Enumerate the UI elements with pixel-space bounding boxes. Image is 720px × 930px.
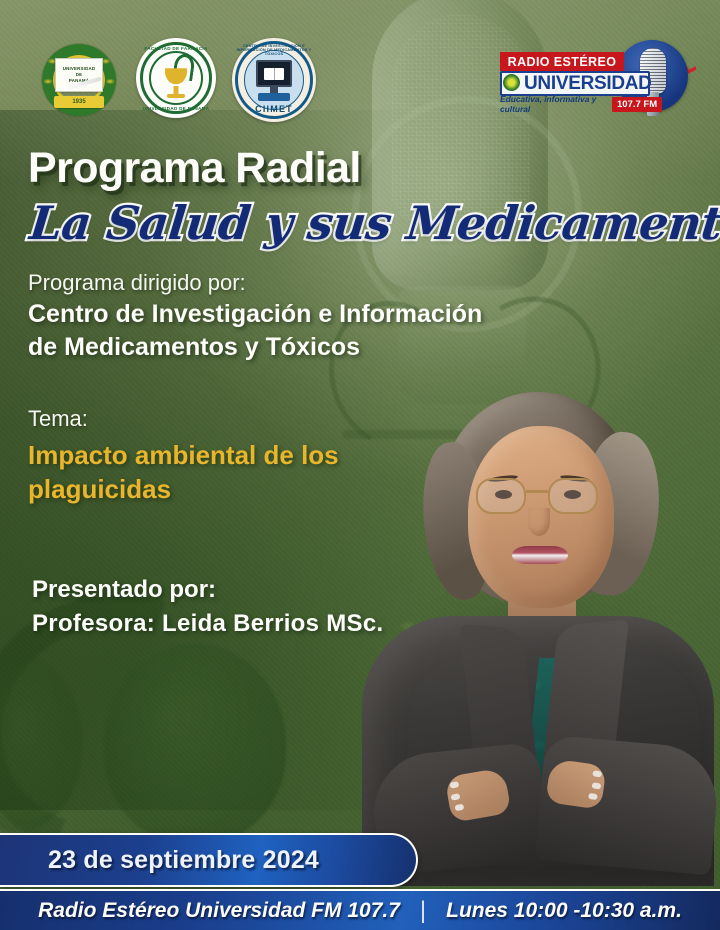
poster-canvas: UNIVERSIDAD DE PANAMÁ 1935 FACULTAD DE F… (0, 0, 720, 930)
directed-by-label: Programa dirigido por: (28, 270, 246, 296)
organizing-center-name: Centro de Investigación e Información de… (28, 298, 508, 363)
fingernail (454, 804, 464, 811)
bowl-foot (167, 94, 185, 98)
book-icon (264, 68, 284, 80)
eyeglasses-lens-right (548, 478, 598, 514)
program-title: Programa Radial (28, 144, 361, 193)
footer-bar: Radio Estéreo Universidad FM 107.7 | Lun… (0, 889, 720, 930)
up-logo-year: 1935 (54, 96, 104, 108)
footer-separator: | (420, 897, 426, 925)
eyeglasses-bridge (526, 490, 548, 493)
radio-logo-top-line: RADIO ESTÉREO (500, 52, 624, 71)
fingernail (592, 770, 602, 777)
fingernail (449, 781, 459, 788)
presenter-portrait (352, 390, 720, 885)
radio-logo-frequency: 107.7 FM (612, 97, 662, 112)
event-date-banner: 23 de septiembre 2024 (0, 833, 418, 887)
farmacia-bottom-text: UNIVERSIDAD DE PANAMÁ (136, 106, 216, 111)
broadcast-schedule: Lunes 10:00 -10:30 a.m. (446, 899, 682, 923)
fingernail (451, 793, 461, 800)
event-date: 23 de septiembre 2024 (48, 846, 319, 875)
ciimet-acronym: CIIMET (232, 104, 316, 114)
mouth (512, 546, 568, 564)
nose (528, 508, 550, 536)
radio-logo-seal-icon (503, 74, 520, 91)
radio-logo-tagline: Educativa, informativa y cultural (500, 97, 628, 111)
fingernail (588, 793, 598, 800)
radio-logo-main-line: UNIVERSIDAD (500, 71, 650, 96)
facultad-de-farmacia-logo: FACULTAD DE FARMACIA UNIVERSIDAD DE PANA… (136, 38, 216, 118)
presenter-name: Profesora: Leida Berrios MSc. (32, 610, 383, 638)
station-name: Radio Estéreo Universidad FM 107.7 (38, 899, 400, 923)
computer-monitor-icon (256, 60, 292, 87)
fingernail (592, 782, 602, 789)
arm-right (535, 735, 720, 876)
universidad-de-panama-logo: UNIVERSIDAD DE PANAMÁ 1935 (38, 38, 120, 124)
topic-label: Tema: (28, 406, 88, 432)
farmacia-top-text: FACULTAD DE FARMACIA (136, 46, 216, 51)
program-name-script: La Salud y sus Medicamentos (27, 196, 720, 250)
monitor-base (258, 93, 290, 101)
radio-estereo-universidad-logo: RADIO ESTÉREO UNIVERSIDAD Educativa, inf… (500, 38, 696, 116)
presented-by-label: Presentado por: (32, 576, 216, 604)
ciimet-top-text: CENTRO DE INVESTIGACIÓN E INFORMACIÓN DE… (232, 44, 316, 56)
institutional-logos: UNIVERSIDAD DE PANAMÁ 1935 FACULTAD DE F… (38, 38, 316, 124)
ciimet-logo: CENTRO DE INVESTIGACIÓN E INFORMACIÓN DE… (232, 38, 316, 122)
eyeglasses-lens-left (476, 478, 526, 514)
